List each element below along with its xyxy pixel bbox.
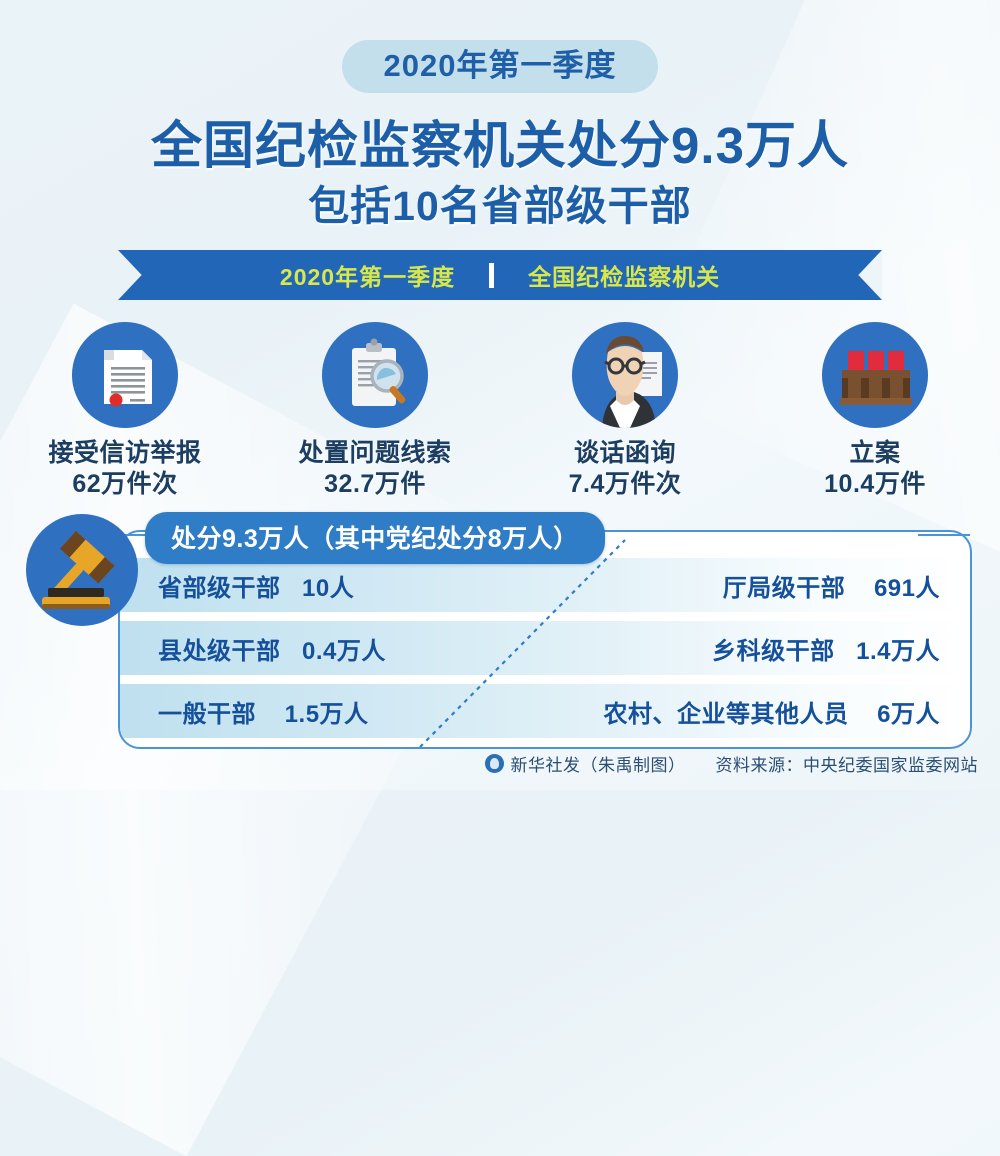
- stat-label: 处置问题线索: [250, 438, 500, 469]
- person-interview-icon: [572, 322, 678, 428]
- row-left-value: 1.5万人: [285, 701, 369, 728]
- row-right-value: 1.4万人: [856, 638, 940, 665]
- ribbon-right-label: 全国纪检监察机关: [528, 258, 720, 292]
- row-left-value: 10人: [302, 575, 354, 602]
- ribbon-divider: [489, 263, 494, 288]
- xinhua-logo-icon: [485, 754, 504, 773]
- stat-item: 谈话函询 7.4万件次: [500, 322, 750, 499]
- header-period-badge: 2020年第一季度: [342, 40, 659, 93]
- panel-heading-badge: 处分9.3万人（其中党纪处分8万人）: [145, 512, 605, 564]
- section-ribbon: 2020年第一季度 全国纪检监察机关: [118, 250, 882, 300]
- footer-credit: 新华社发（朱禹制图） 资料来源：中央纪委国家监委网站: [485, 751, 979, 776]
- document-seal-icon: [72, 322, 178, 428]
- table-row: 省部级干部 10人 厅局级干部 691人: [120, 558, 970, 612]
- stat-value: 32.7万件: [250, 469, 500, 500]
- row-left-value: 0.4万人: [302, 638, 386, 665]
- footer-source-text: 资料来源：中央纪委国家监委网站: [716, 751, 979, 776]
- stat-label: 立案: [750, 438, 1000, 469]
- stat-label: 谈话函询: [500, 438, 750, 469]
- stat-item: 立案 10.4万件: [750, 322, 1000, 499]
- row-left-cell: 省部级干部 10人: [158, 568, 354, 603]
- footer-credit-text: 新华社发（朱禹制图）: [511, 751, 686, 776]
- row-left-label: 县处级干部: [158, 638, 281, 665]
- ribbon-left-label: 2020年第一季度: [280, 258, 455, 292]
- stat-item: 处置问题线索 32.7万件: [250, 322, 500, 499]
- row-right-cell: 农村、企业等其他人员 6万人: [603, 694, 940, 729]
- stat-value: 7.4万件次: [500, 469, 750, 500]
- clipboard-magnifier-icon: [322, 322, 428, 428]
- page-title: 全国纪检监察机关处分9.3万人: [0, 104, 1000, 178]
- row-right-label: 厅局级干部: [723, 575, 846, 602]
- gavel-icon: [26, 514, 138, 626]
- stat-label: 接受信访举报: [0, 438, 250, 469]
- table-row: 一般干部 1.5万人 农村、企业等其他人员 6万人: [120, 684, 970, 738]
- stats-row: 接受信访举报 62万件次: [0, 322, 1000, 499]
- page-subtitle: 包括10名省部级干部: [0, 172, 1000, 232]
- stat-value: 10.4万件: [750, 469, 1000, 500]
- row-right-cell: 乡科级干部 1.4万人: [712, 631, 940, 666]
- case-files-icon: [822, 322, 928, 428]
- row-left-cell: 县处级干部 0.4万人: [158, 631, 386, 666]
- panel-pill-tail-right: [918, 534, 970, 536]
- breakdown-rows: 省部级干部 10人 厅局级干部 691人 县处级干部 0.4万人 乡科级干部 1…: [120, 532, 970, 747]
- table-row: 县处级干部 0.4万人 乡科级干部 1.4万人: [120, 621, 970, 675]
- row-left-cell: 一般干部 1.5万人: [158, 694, 369, 729]
- row-right-cell: 厅局级干部 691人: [723, 568, 940, 603]
- row-right-value: 6万人: [877, 701, 940, 728]
- row-left-label: 一般干部: [158, 701, 256, 728]
- row-right-value: 691人: [874, 575, 940, 602]
- row-right-label: 乡科级干部: [712, 638, 835, 665]
- stat-item: 接受信访举报 62万件次: [0, 322, 250, 499]
- infographic-canvas: 2020年第一季度 全国纪检监察机关处分9.3万人 包括10名省部级干部 202…: [0, 0, 1000, 790]
- stat-value: 62万件次: [0, 469, 250, 500]
- header-badge-wrap: 2020年第一季度: [0, 40, 1000, 93]
- row-right-label: 农村、企业等其他人员: [603, 701, 848, 728]
- row-left-label: 省部级干部: [158, 575, 281, 602]
